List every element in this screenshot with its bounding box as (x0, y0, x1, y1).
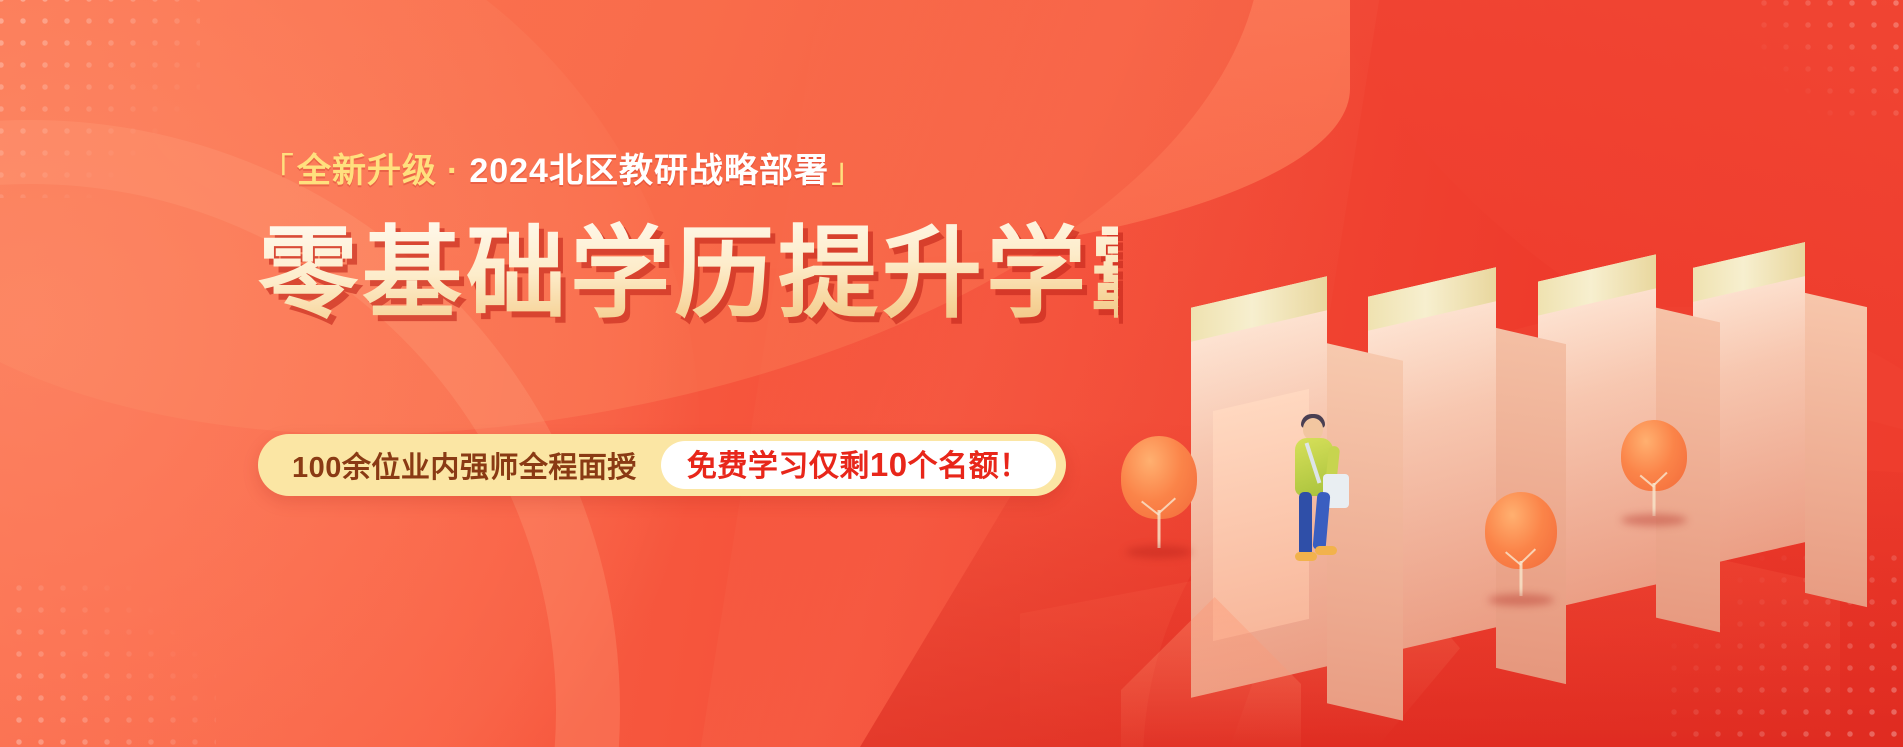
person-shoe-left (1295, 552, 1317, 561)
person-leg-right (1312, 492, 1330, 551)
promo-banner: 「全新升级·2024北区教研战略部署」 零基础学历提升学霸班 100余位业内强师… (0, 0, 1903, 747)
tree-right-crown (1621, 420, 1687, 491)
subtitle-separator-dot: · (447, 152, 459, 190)
person-shoe-right (1315, 546, 1337, 555)
tree-right-shadow (1621, 514, 1687, 526)
tree-center (1485, 492, 1557, 596)
tree-left-crown (1121, 436, 1197, 519)
subtitle-highlight: 全新升级 (297, 152, 437, 190)
tree-center-shadow (1488, 594, 1554, 606)
promo-badge[interactable]: 免费学习仅剩10个名额！ (661, 441, 1056, 489)
promo-badge-number: 10 (870, 446, 908, 483)
book-4-leg (1805, 293, 1867, 607)
promo-badge-suffix: 个名额！ (908, 450, 1030, 483)
dot-grid-bottom-left (0, 577, 216, 747)
person-head (1303, 418, 1323, 440)
bracket-close-icon: 」 (831, 152, 866, 190)
walking-student-figure (1289, 418, 1353, 568)
tree-center-crown (1485, 492, 1557, 569)
tree-left-shadow (1126, 546, 1192, 558)
promo-pill-text: 100余位业内强师全程面授 (292, 444, 661, 486)
banner-copy: 「全新升级·2024北区教研战略部署」 零基础学历提升学霸班 100余位业内强师… (258, 150, 1118, 496)
promo-pill[interactable]: 100余位业内强师全程面授 免费学习仅剩10个名额！ (258, 434, 1066, 496)
tree-right (1621, 420, 1687, 516)
banner-title: 零基础学历提升学霸班 (258, 219, 1118, 329)
tree-left (1121, 436, 1197, 548)
tree-right-trunk (1653, 483, 1656, 516)
books-illustration (1043, 0, 1903, 747)
person-leg-left (1299, 492, 1312, 556)
subtitle-rest: 2024北区教研战略部署 (469, 152, 829, 190)
promo-badge-prefix: 免费学习仅剩 (687, 450, 870, 483)
banner-subtitle: 「全新升级·2024北区教研战略部署」 (258, 150, 1118, 193)
dot-grid-top-left (0, 0, 200, 198)
book-4-leg-spine (1805, 293, 1867, 607)
bracket-open-icon: 「 (260, 152, 295, 190)
